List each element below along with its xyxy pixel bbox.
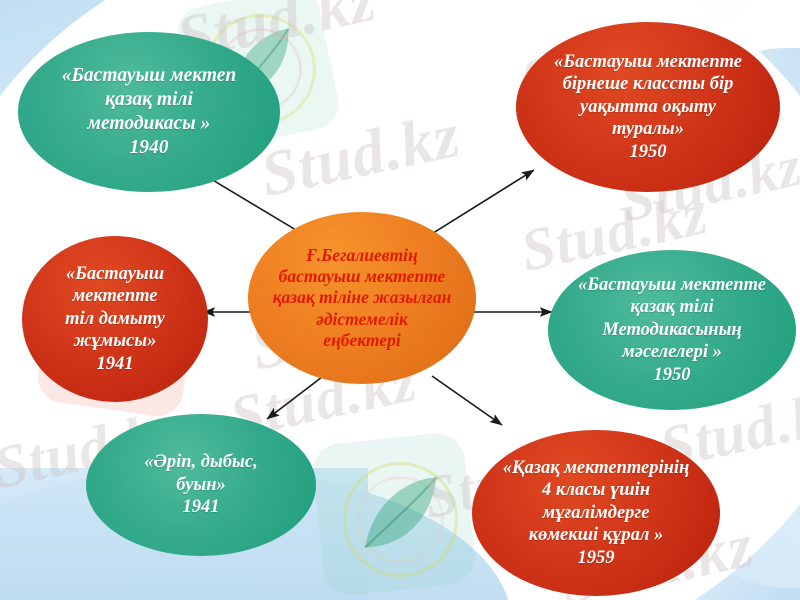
node-bottom-left-text: «Әріп, дыбыс, буын» 1941 <box>140 451 261 519</box>
arrow-center-to-bottom-right <box>432 376 502 425</box>
center-node[interactable]: Ғ.Бегалиевтің бастауыш мектепте қазақ ті… <box>248 212 476 384</box>
node-right-text: «Бастауыш мектепте қазақ тілі Методикасы… <box>574 274 770 387</box>
center-node-text: Ғ.Бегалиевтің бастауыш мектепте қазақ ті… <box>269 245 456 352</box>
node-bottom-right[interactable]: «Қазақ мектептерінің 4 класы үшін мұғалі… <box>472 430 720 596</box>
node-top-left[interactable]: «Бастауыш мектеп қазақ тілі методикасы »… <box>18 32 280 192</box>
node-right[interactable]: «Бастауыш мектепте қазақ тілі Методикасы… <box>548 250 796 410</box>
node-bottom-left[interactable]: «Әріп, дыбыс, буын» 1941 <box>86 414 316 556</box>
node-top-left-text: «Бастауыш мектеп қазақ тілі методикасы »… <box>58 64 241 159</box>
node-left-text: «Бастауыш мектепте тіл дамыту жұмысы» 19… <box>61 263 169 376</box>
node-top-right-text: «Бастауыш мектепте бірнеше классты бір у… <box>550 51 746 164</box>
slide-canvas: Stud.kz Stud.kz Stud.kz Stud.kz Stud.kz … <box>0 0 800 600</box>
node-bottom-right-text: «Қазақ мектептерінің 4 класы үшін мұғалі… <box>499 457 694 570</box>
arrow-center-to-bottom-left <box>267 374 326 419</box>
node-top-right[interactable]: «Бастауыш мектепте бірнеше классты бір у… <box>516 22 780 192</box>
node-left[interactable]: «Бастауыш мектепте тіл дамыту жұмысы» 19… <box>22 236 208 402</box>
